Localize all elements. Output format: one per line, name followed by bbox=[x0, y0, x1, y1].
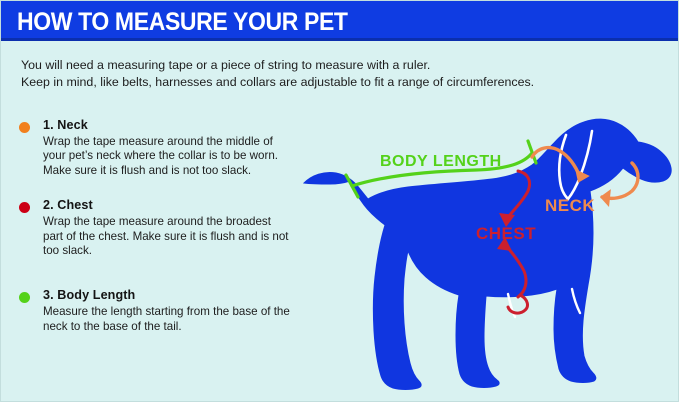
label-neck: NECK bbox=[545, 196, 595, 215]
intro-paragraph: You will need a measuring tape or a piec… bbox=[21, 57, 621, 91]
step-title-chest: 2. Chest bbox=[43, 198, 299, 213]
step-body-line: Wrap the tape measure around the middle … bbox=[43, 135, 299, 149]
measurement-steps-list: 1. Neck Wrap the tape measure around the… bbox=[19, 118, 299, 354]
step-title-body-length: 3. Body Length bbox=[43, 288, 299, 303]
label-body-length: BODY LENGTH bbox=[380, 153, 502, 170]
step-body-line: Make sure it is flush and is not too sla… bbox=[43, 164, 299, 178]
dog-measurement-diagram: BODY LENGTH NECK CHEST bbox=[296, 101, 679, 402]
step-body-line: neck to the base of the tail. bbox=[43, 320, 299, 334]
bullet-icon-neck bbox=[19, 122, 30, 133]
intro-line-2: Keep in mind, like belts, harnesses and … bbox=[21, 74, 621, 91]
bullet-icon-chest bbox=[19, 202, 30, 213]
step-item-body-length: 3. Body Length Measure the length starti… bbox=[19, 288, 299, 334]
step-body-line: Wrap the tape measure around the broades… bbox=[43, 215, 299, 229]
step-body-neck: Wrap the tape measure around the middle … bbox=[43, 135, 299, 178]
step-body-line: part of the chest. Make sure it is flush… bbox=[43, 230, 299, 244]
page-title: HOW TO MEASURE YOUR PET bbox=[17, 8, 348, 37]
bullet-icon-body-length bbox=[19, 292, 30, 303]
step-item-neck: 1. Neck Wrap the tape measure around the… bbox=[19, 118, 299, 178]
infographic-page: HOW TO MEASURE YOUR PET You will need a … bbox=[0, 0, 679, 402]
step-body-line: your pet’s neck where the collar is to b… bbox=[43, 149, 299, 163]
step-title-neck: 1. Neck bbox=[43, 118, 299, 133]
step-body-line: Measure the length starting from the bas… bbox=[43, 305, 299, 319]
intro-line-1: You will need a measuring tape or a piec… bbox=[21, 57, 621, 74]
step-item-chest: 2. Chest Wrap the tape measure around th… bbox=[19, 198, 299, 258]
step-body-chest: Wrap the tape measure around the broades… bbox=[43, 215, 299, 258]
step-body-body-length: Measure the length starting from the bas… bbox=[43, 305, 299, 334]
label-chest: CHEST bbox=[476, 224, 536, 243]
step-body-line: too slack. bbox=[43, 244, 299, 258]
